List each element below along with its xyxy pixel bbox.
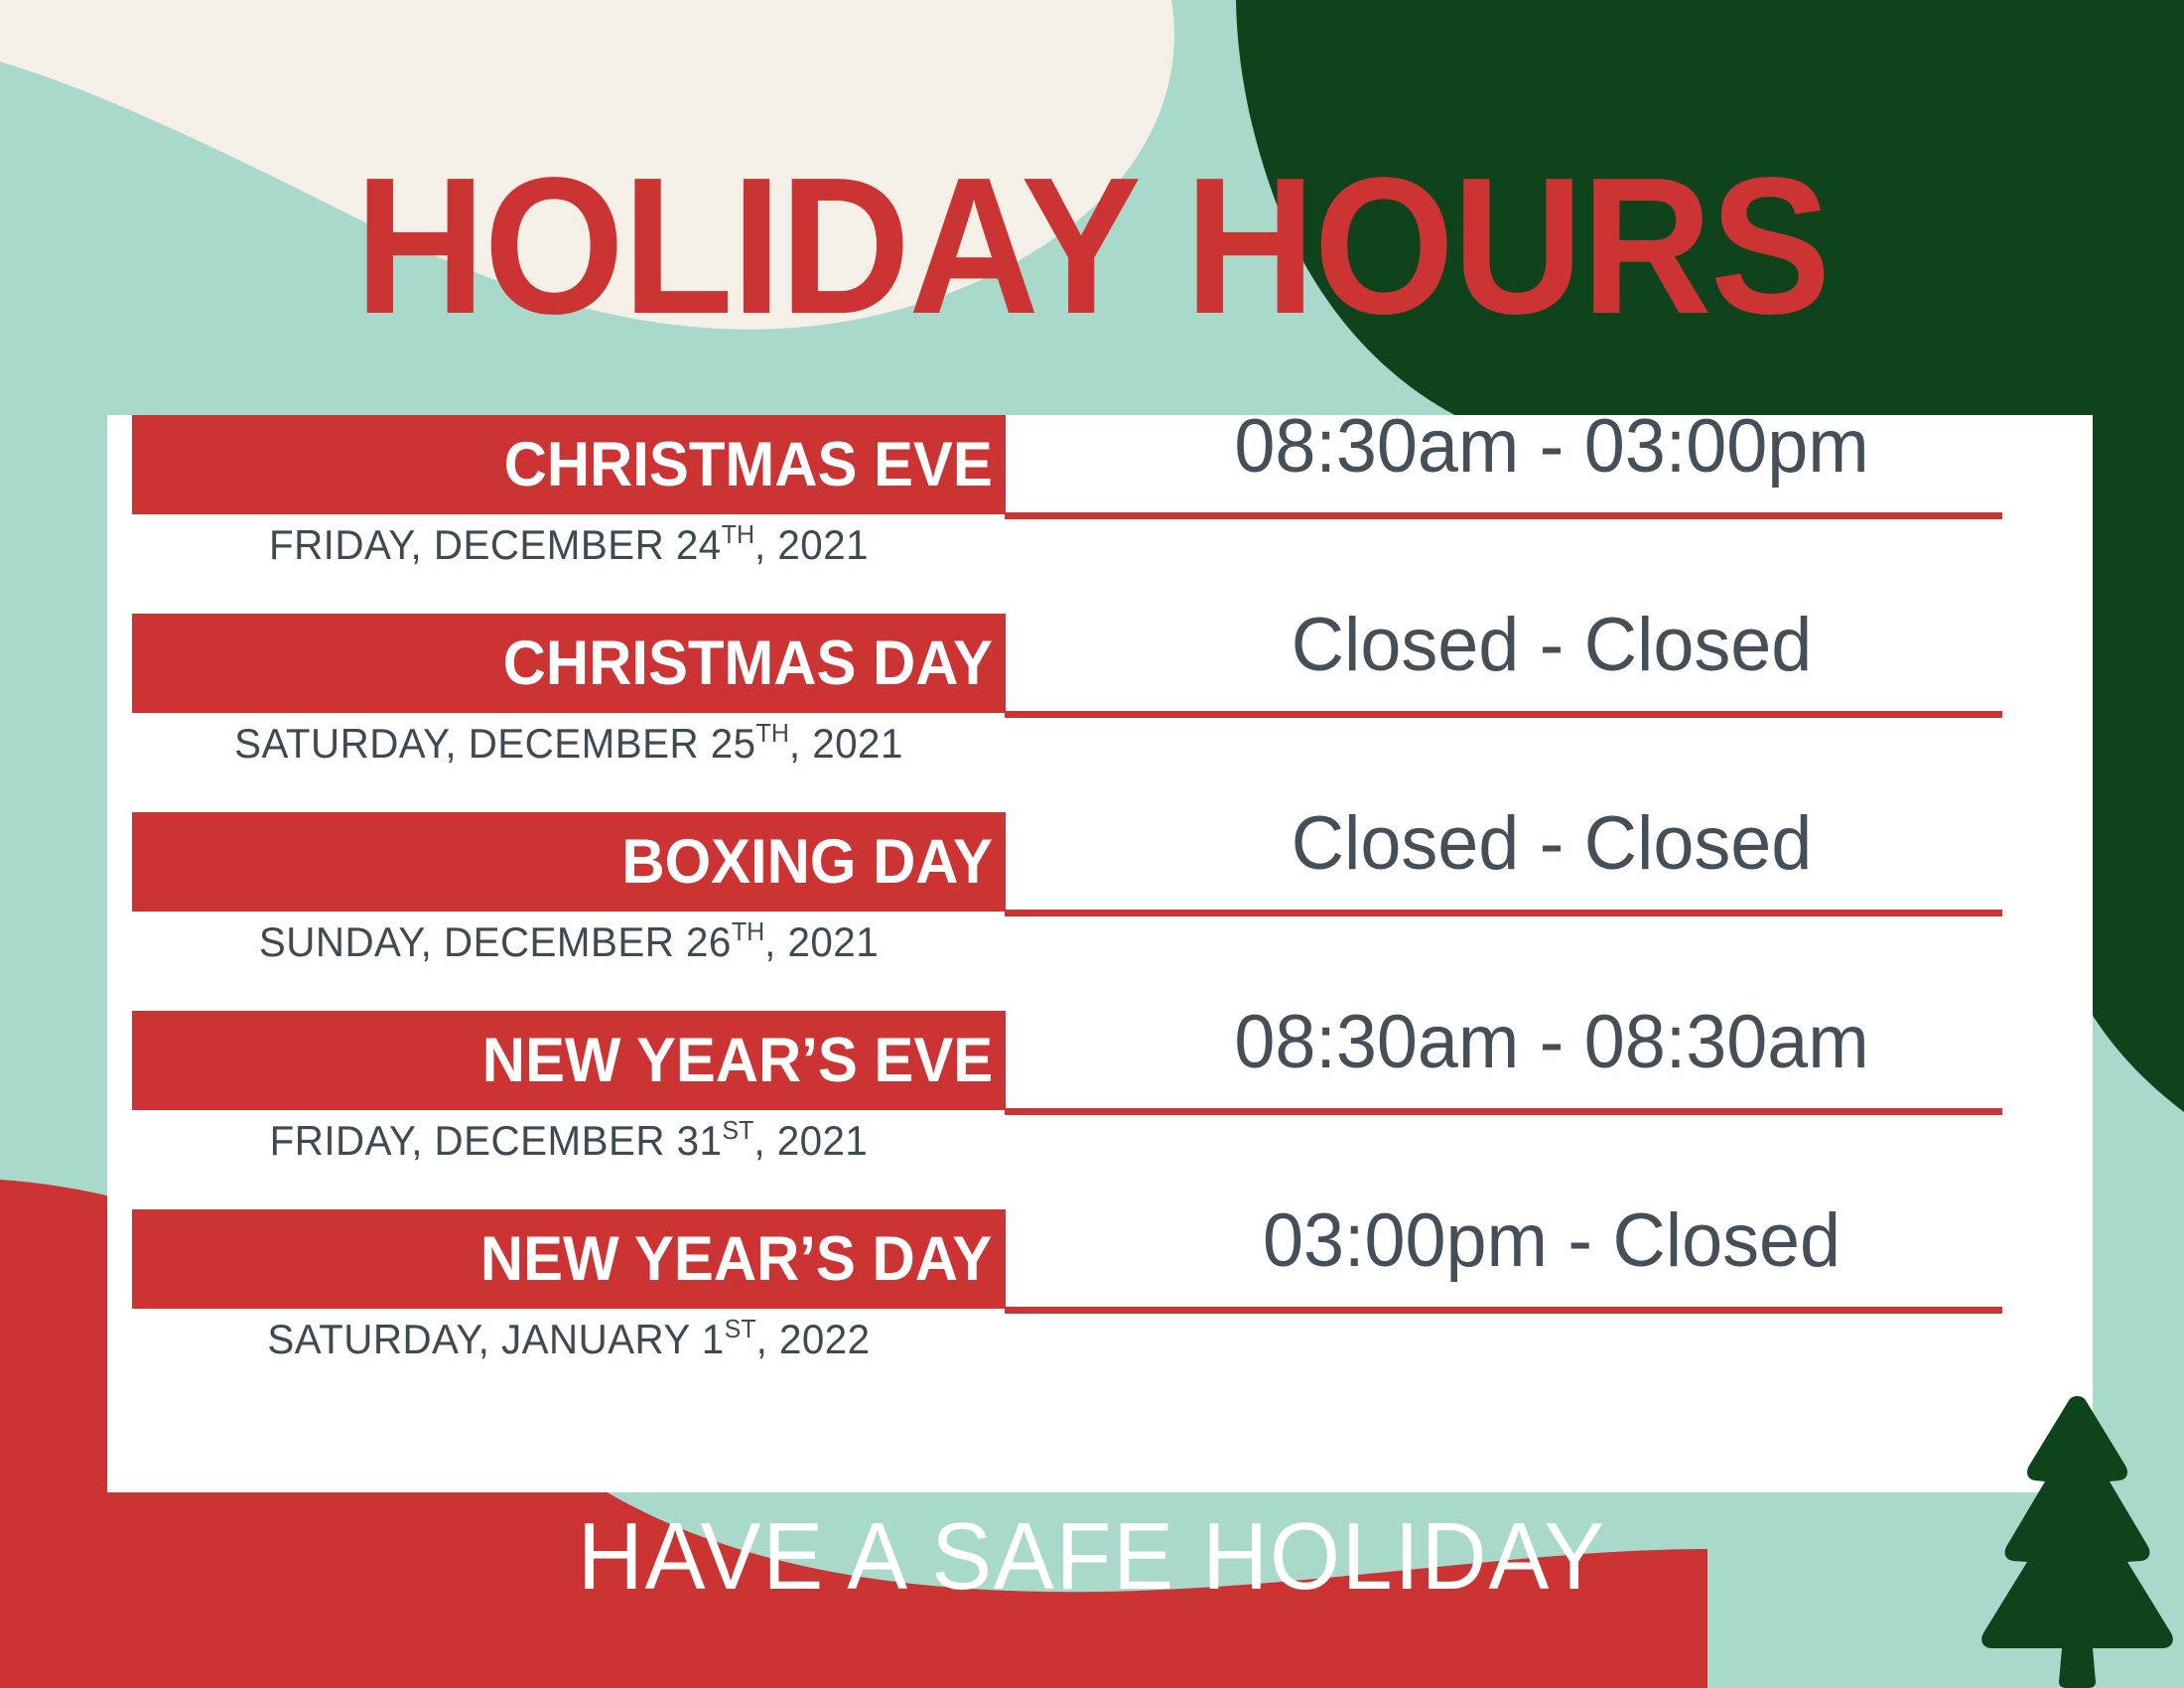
row-divider [1005, 512, 2002, 519]
holiday-hours-poster: HOLIDAY HOURS CHRISTMAS EVE FRIDAY, DECE… [0, 0, 2184, 1688]
schedule-panel: CHRISTMAS EVE FRIDAY, DECEMBER 24TH, 202… [107, 415, 2093, 1492]
page-title: HOLIDAY HOURS [76, 149, 2108, 344]
holiday-date-ordinal: ST [725, 1314, 756, 1343]
holiday-date-prefix: FRIDAY, DECEMBER 24 [269, 521, 722, 568]
holiday-date-prefix: SUNDAY, DECEMBER 26 [259, 918, 732, 965]
holiday-date-prefix: FRIDAY, DECEMBER 31 [270, 1117, 723, 1164]
holiday-name-bar: NEW YEAR’S DAY [132, 1209, 1006, 1309]
holiday-date-ordinal: TH [732, 916, 764, 946]
holiday-name: CHRISTMAS EVE [504, 434, 1006, 496]
schedule-row: BOXING DAY SUNDAY, DECEMBER 26TH, 2021 C… [107, 812, 2093, 1011]
holiday-date: SATURDAY, JANUARY 1ST, 2022 [150, 1313, 989, 1366]
row-divider [1005, 711, 2002, 718]
holiday-date-ordinal: TH [756, 718, 789, 748]
christmas-tree-icon [1971, 1388, 2184, 1688]
holiday-hours: Closed - Closed [1026, 806, 2076, 882]
holiday-hours: Closed - Closed [1026, 608, 2076, 683]
holiday-date-suffix: , 2021 [754, 521, 869, 568]
schedule-row: CHRISTMAS EVE FRIDAY, DECEMBER 24TH, 202… [107, 415, 2093, 614]
holiday-name: NEW YEAR’S EVE [481, 1030, 1006, 1092]
holiday-date: SUNDAY, DECEMBER 26TH, 2021 [150, 915, 989, 969]
holiday-date-ordinal: TH [722, 519, 754, 549]
holiday-date: FRIDAY, DECEMBER 24TH, 2021 [150, 518, 989, 572]
holiday-name-bar: NEW YEAR’S EVE [132, 1011, 1006, 1110]
holiday-date-ordinal: ST [722, 1115, 753, 1145]
holiday-date-suffix: , 2021 [753, 1117, 868, 1164]
schedule-row: CHRISTMAS DAY SATURDAY, DECEMBER 25TH, 2… [107, 614, 2093, 812]
holiday-date-suffix: , 2022 [756, 1316, 871, 1362]
holiday-name-bar: CHRISTMAS EVE [132, 415, 1006, 514]
schedule-row: NEW YEAR’S DAY SATURDAY, JANUARY 1ST, 20… [107, 1209, 2093, 1408]
holiday-name: NEW YEAR’S DAY [480, 1228, 1006, 1291]
holiday-hours: 08:30am - 08:30am [1026, 1005, 2076, 1080]
holiday-name: BOXING DAY [621, 831, 1006, 894]
holiday-name-bar: BOXING DAY [132, 812, 1006, 912]
holiday-hours: 08:30am - 03:00pm [1026, 409, 2076, 485]
holiday-date-prefix: SATURDAY, DECEMBER 25 [234, 720, 755, 767]
holiday-date-suffix: , 2021 [789, 720, 903, 767]
holiday-date: SATURDAY, DECEMBER 25TH, 2021 [150, 717, 989, 771]
holiday-date-prefix: SATURDAY, JANUARY 1 [267, 1316, 724, 1362]
holiday-name-bar: CHRISTMAS DAY [132, 614, 1006, 713]
holiday-date: FRIDAY, DECEMBER 31ST, 2021 [150, 1114, 989, 1168]
row-divider [1005, 1307, 2002, 1314]
row-divider [1005, 1108, 2002, 1115]
row-divider [1005, 910, 2002, 916]
footer-tagline: HAVE A SAFE HOLIDAY [55, 1509, 2129, 1605]
holiday-date-suffix: , 2021 [764, 918, 879, 965]
holiday-hours: 03:00pm - Closed [1026, 1203, 2076, 1279]
holiday-name: CHRISTMAS DAY [502, 633, 1006, 695]
schedule-row: NEW YEAR’S EVE FRIDAY, DECEMBER 31ST, 20… [107, 1011, 2093, 1209]
